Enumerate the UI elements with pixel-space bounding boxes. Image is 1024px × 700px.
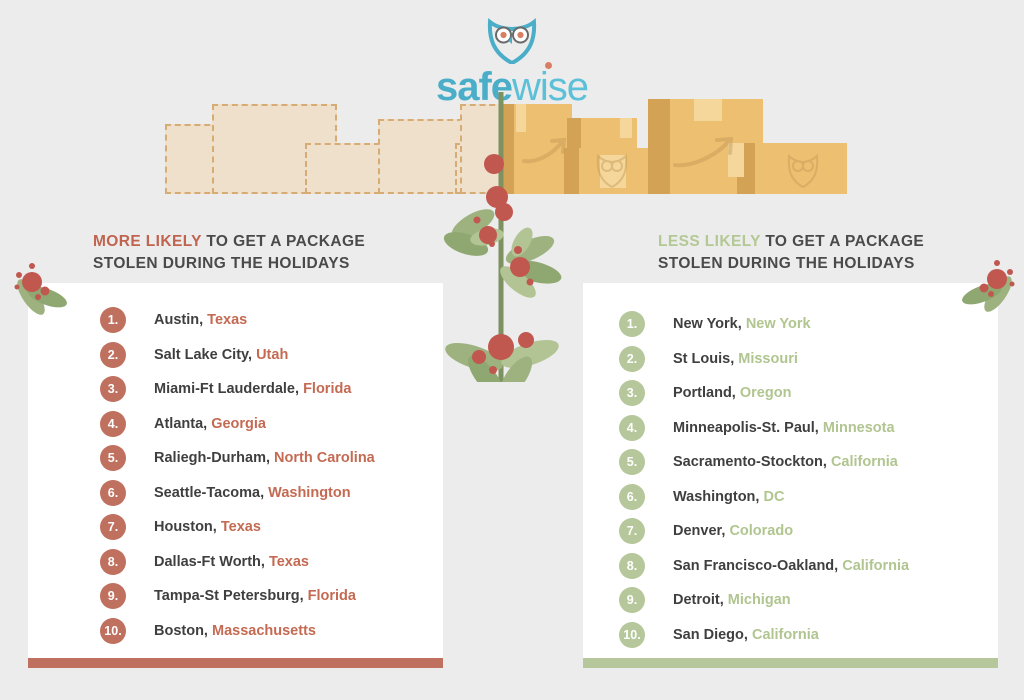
holly-sprig-icon-left <box>5 255 67 317</box>
rank-badge: 2. <box>100 342 126 368</box>
rank-badge: 2. <box>619 346 645 372</box>
wordmark-dot-icon <box>545 62 552 69</box>
city-name: Denver, <box>673 523 725 539</box>
list-item[interactable]: 5.Sacramento-Stockton, California <box>619 445 1024 480</box>
state-name: Washington <box>268 485 350 501</box>
less-likely-list: 1.New York, New York2.St Louis, Missouri… <box>583 283 1024 652</box>
state-name: Utah <box>256 347 288 363</box>
right-heading-rest: TO GET A PACKAGE <box>761 233 925 250</box>
list-item-label: Raliegh-Durham, North Carolina <box>154 450 375 466</box>
list-item-label: Atlanta, Georgia <box>154 416 266 432</box>
list-item-label: New York, New York <box>673 316 811 332</box>
list-item-label: Portland, Oregon <box>673 385 791 401</box>
more-likely-list: 1.Austin, Texas2.Salt Lake City, Utah3.M… <box>28 283 515 648</box>
state-name: Georgia <box>211 416 266 432</box>
list-item[interactable]: 9.Tampa-St Petersburg, Florida <box>100 579 515 614</box>
city-name: New York, <box>673 316 742 332</box>
list-item[interactable]: 5.Raliegh-Durham, North Carolina <box>100 441 515 476</box>
rank-badge: 10. <box>619 622 645 648</box>
state-name: Missouri <box>738 351 798 367</box>
state-name: California <box>831 454 898 470</box>
rank-badge: 10. <box>100 618 126 644</box>
city-name: San Diego, <box>673 627 748 643</box>
city-name: St Louis, <box>673 351 734 367</box>
state-name: Texas <box>269 554 309 570</box>
list-item-label: Washington, DC <box>673 489 784 505</box>
list-item-label: Austin, Texas <box>154 312 247 328</box>
city-name: Boston, <box>154 623 208 639</box>
rank-badge: 4. <box>619 415 645 441</box>
ghost-box-4 <box>305 143 380 194</box>
state-name: California <box>752 627 819 643</box>
list-item-label: Detroit, Michigan <box>673 592 791 608</box>
less-likely-card-bar <box>583 658 998 668</box>
list-item[interactable]: 4.Atlanta, Georgia <box>100 407 515 442</box>
right-heading-line2: STOLEN DURING THE HOLIDAYS <box>658 255 915 272</box>
city-name: Portland, <box>673 385 736 401</box>
delivery-arrow-icon-2 <box>673 137 735 169</box>
owl-stamp-icon <box>595 150 629 188</box>
state-name: DC <box>763 489 784 505</box>
list-item-label: Sacramento-Stockton, California <box>673 454 898 470</box>
state-name: New York <box>746 316 811 332</box>
list-item-label: Boston, Massachusetts <box>154 623 316 639</box>
city-name: Dallas-Ft Worth, <box>154 554 265 570</box>
city-name: Miami-Ft Lauderdale, <box>154 381 299 397</box>
city-name: Houston, <box>154 519 217 535</box>
state-name: Massachusetts <box>212 623 316 639</box>
rank-badge: 5. <box>619 449 645 475</box>
list-item[interactable]: 6.Washington, DC <box>619 480 1024 515</box>
list-item-label: Houston, Texas <box>154 519 261 535</box>
state-name: California <box>842 558 909 574</box>
state-name: North Carolina <box>274 450 375 466</box>
list-item[interactable]: 7.Denver, Colorado <box>619 514 1024 549</box>
more-likely-card: 1.Austin, Texas2.Salt Lake City, Utah3.M… <box>28 283 443 658</box>
list-item-label: San Francisco-Oakland, California <box>673 558 909 574</box>
rank-badge: 5. <box>100 445 126 471</box>
rank-badge: 9. <box>100 583 126 609</box>
real-box-2-flap <box>620 118 632 138</box>
rank-badge: 3. <box>619 380 645 406</box>
list-item-label: Miami-Ft Lauderdale, Florida <box>154 381 351 397</box>
city-name: Raliegh-Durham, <box>154 450 270 466</box>
owl-stamp-icon-2 <box>786 150 820 188</box>
city-name: Salt Lake City, <box>154 347 252 363</box>
list-item-label: Minneapolis-St. Paul, Minnesota <box>673 420 895 436</box>
list-item[interactable]: 6.Seattle-Tacoma, Washington <box>100 476 515 511</box>
list-item[interactable]: 3.Portland, Oregon <box>619 376 1024 411</box>
state-name: Colorado <box>729 523 793 539</box>
real-box-4-flap <box>694 99 722 121</box>
state-name: Texas <box>207 312 247 328</box>
state-name: Florida <box>303 381 351 397</box>
city-name: Detroit, <box>673 592 724 608</box>
list-item[interactable]: 10.San Diego, California <box>619 618 1024 653</box>
state-name: Oregon <box>740 385 792 401</box>
rank-badge: 1. <box>619 311 645 337</box>
left-heading-highlight: MORE LIKELY <box>93 233 202 250</box>
rank-badge: 9. <box>619 587 645 613</box>
list-item[interactable]: 1.Austin, Texas <box>100 303 515 338</box>
list-item-label: Dallas-Ft Worth, Texas <box>154 554 309 570</box>
city-name: Minneapolis-St. Paul, <box>673 420 819 436</box>
state-name: Michigan <box>728 592 791 608</box>
list-item-label: Seattle-Tacoma, Washington <box>154 485 351 501</box>
city-name: Atlanta, <box>154 416 207 432</box>
city-name: Washington, <box>673 489 759 505</box>
city-name: Seattle-Tacoma, <box>154 485 264 501</box>
holly-sprig-icon-right <box>962 252 1024 314</box>
list-item-label: Salt Lake City, Utah <box>154 347 288 363</box>
list-item[interactable]: 4.Minneapolis-St. Paul, Minnesota <box>619 411 1024 446</box>
list-item[interactable]: 8.Dallas-Ft Worth, Texas <box>100 545 515 580</box>
city-name: Sacramento-Stockton, <box>673 454 827 470</box>
right-heading-highlight: LESS LIKELY <box>658 233 761 250</box>
list-item[interactable]: 9.Detroit, Michigan <box>619 583 1024 618</box>
rank-badge: 1. <box>100 307 126 333</box>
left-panel-heading: MORE LIKELY TO GET A PACKAGE STOLEN DURI… <box>93 231 493 275</box>
rank-badge: 6. <box>100 480 126 506</box>
state-name: Florida <box>308 588 356 604</box>
rank-badge: 7. <box>100 514 126 540</box>
less-likely-card: 1.New York, New York2.St Louis, Missouri… <box>583 283 998 658</box>
state-name: Minnesota <box>823 420 895 436</box>
list-item[interactable]: 2.Salt Lake City, Utah <box>100 338 515 373</box>
left-heading-rest: TO GET A PACKAGE <box>202 233 366 250</box>
list-item[interactable]: 3.Miami-Ft Lauderdale, Florida <box>100 372 515 407</box>
rank-badge: 7. <box>619 518 645 544</box>
list-item[interactable]: 7.Houston, Texas <box>100 510 515 545</box>
list-item-label: St Louis, Missouri <box>673 351 798 367</box>
list-item[interactable]: 8.San Francisco-Oakland, California <box>619 549 1024 584</box>
left-heading-line2: STOLEN DURING THE HOLIDAYS <box>93 255 350 272</box>
owl-icon <box>483 14 541 64</box>
list-item-label: San Diego, California <box>673 627 819 643</box>
list-item-label: Tampa-St Petersburg, Florida <box>154 588 356 604</box>
city-name: Tampa-St Petersburg, <box>154 588 304 604</box>
real-box-4-shade <box>648 99 670 194</box>
rank-badge: 8. <box>619 553 645 579</box>
infographic-root: safewise <box>0 0 1024 700</box>
list-item[interactable]: 10.Boston, Massachusetts <box>100 614 515 649</box>
state-name: Texas <box>221 519 261 535</box>
list-item[interactable]: 2.St Louis, Missouri <box>619 342 1024 377</box>
city-name: Austin, <box>154 312 203 328</box>
rank-badge: 3. <box>100 376 126 402</box>
rank-badge: 4. <box>100 411 126 437</box>
rank-badge: 8. <box>100 549 126 575</box>
rank-badge: 6. <box>619 484 645 510</box>
list-item-label: Denver, Colorado <box>673 523 793 539</box>
city-name: San Francisco-Oakland, <box>673 558 838 574</box>
more-likely-card-bar <box>28 658 443 668</box>
